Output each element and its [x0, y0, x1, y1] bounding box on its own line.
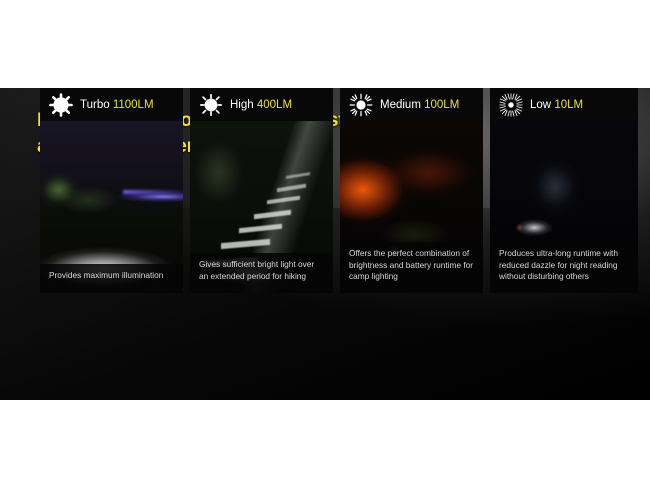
sun-burst-turbo-icon — [49, 93, 73, 117]
card-title: Low 10LM — [530, 99, 583, 111]
card-mode-label: Low — [530, 99, 551, 111]
card-header: High 400LM — [190, 88, 333, 121]
sun-burst-low-icon — [499, 93, 523, 117]
sun-burst-medium-icon — [349, 93, 373, 117]
card-title: Medium 100LM — [380, 99, 459, 111]
card-lumens-label: 100LM — [424, 99, 459, 111]
mode-card-medium[interactable]: Medium 100LM Offers the perfect combinat… — [340, 88, 483, 293]
card-lumens-label: 10LM — [554, 99, 583, 111]
card-mode-label: Medium — [380, 99, 421, 111]
card-title: High 400LM — [230, 99, 292, 111]
card-caption: Produces ultra-long runtime with reduced… — [490, 242, 638, 293]
mode-card-turbo[interactable]: Turbo 1100LM Provides maximum illuminati… — [40, 88, 183, 293]
mode-card-high[interactable]: High 400LM Gives sufficient bright light… — [190, 88, 333, 293]
mode-card-list: Turbo 1100LM Provides maximum illuminati… — [40, 88, 638, 293]
mode-card-low[interactable]: Low 10LM Produces ultra-long runtime wit… — [490, 88, 638, 293]
card-lumens-label: 1100LM — [113, 99, 154, 111]
card-header: Turbo 1100LM — [40, 88, 183, 121]
card-mode-label: Turbo — [80, 99, 110, 111]
card-header: Low 10LM — [490, 88, 638, 121]
card-caption: Offers the perfect combination of bright… — [340, 242, 483, 293]
sun-burst-high-icon — [199, 93, 223, 117]
card-header: Medium 100LM — [340, 88, 483, 121]
card-mode-label: High — [230, 99, 254, 111]
card-caption: Gives sufficient bright light over an ex… — [190, 253, 333, 293]
card-caption: Provides maximum illumination — [40, 264, 183, 293]
card-title: Turbo 1100LM — [80, 99, 154, 111]
page-root: Mode selection optimized for best outdoo… — [0, 0, 650, 487]
card-lumens-label: 400LM — [257, 99, 292, 111]
